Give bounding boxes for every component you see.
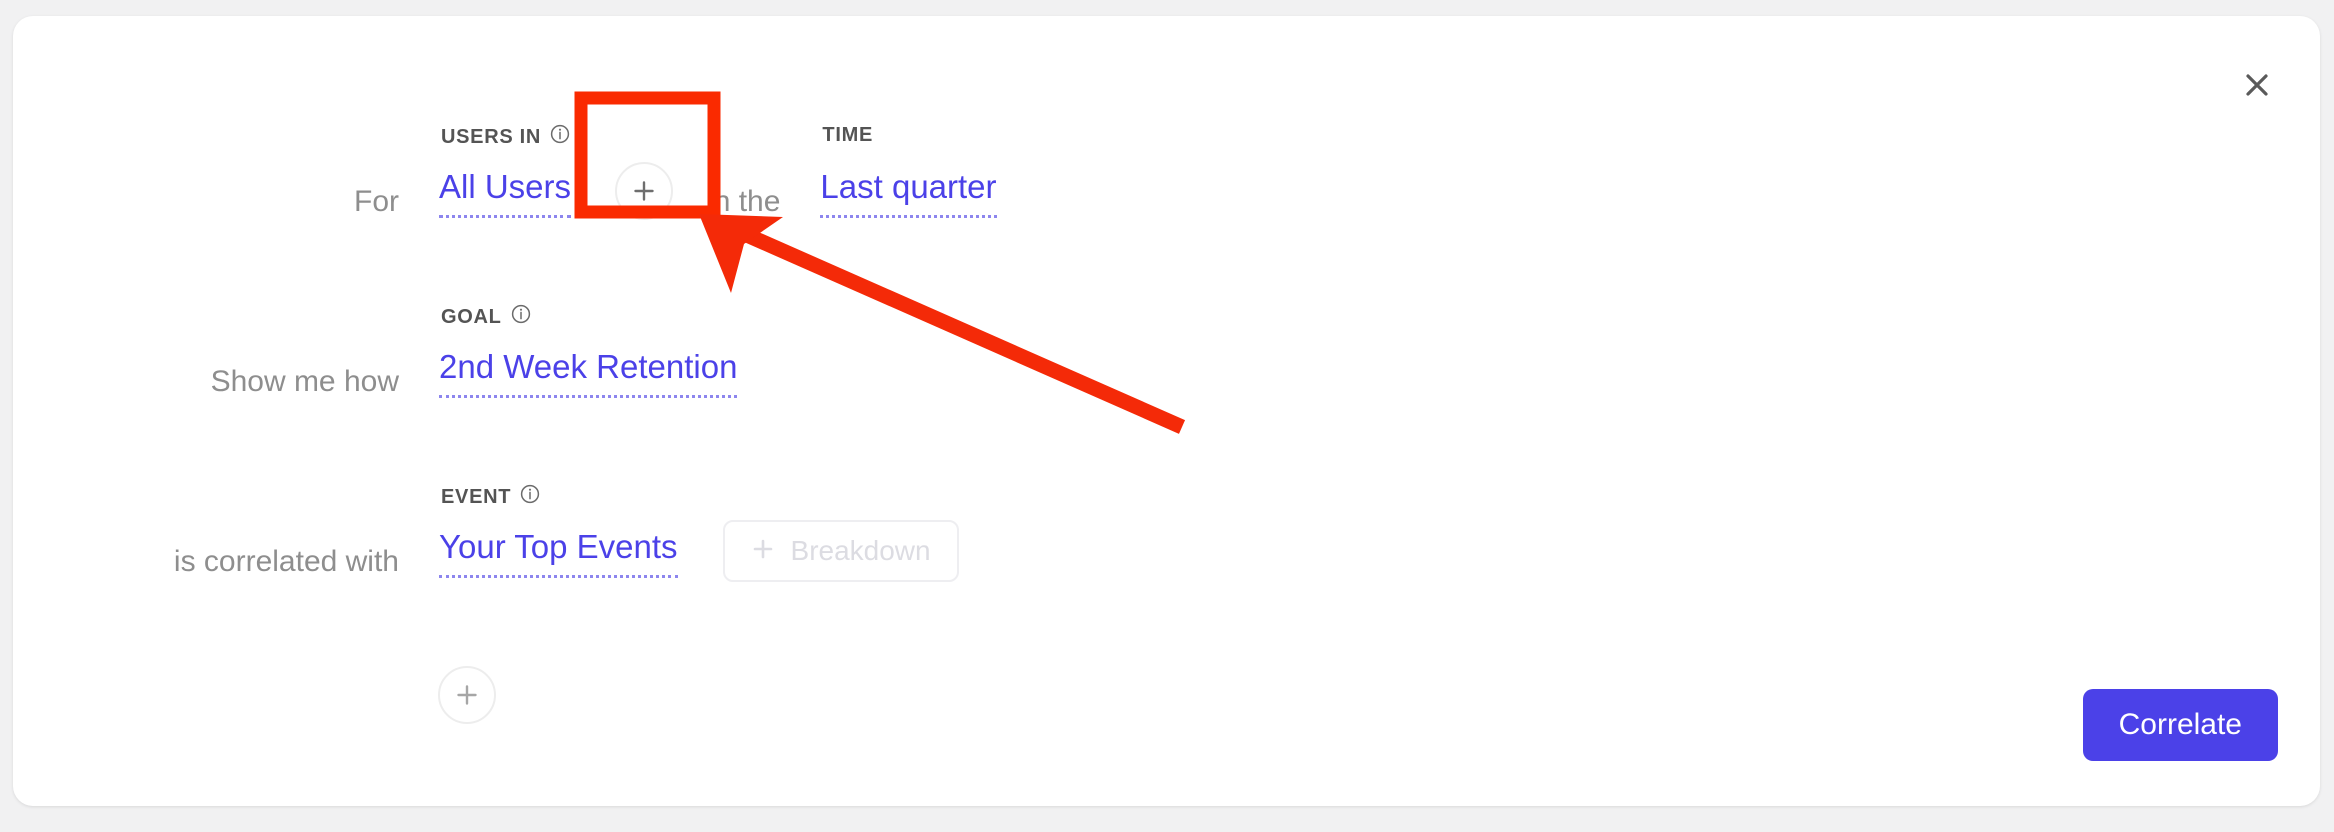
query-row-goal: Show me how GOAL 2nd Week Retention <box>13 314 737 406</box>
screen: For USERS IN All Users <box>0 0 2334 832</box>
row-lead-is-correlated-with: is correlated with <box>13 545 399 586</box>
field-label-users-in: USERS IN <box>441 124 570 150</box>
field-event: EVENT Your Top Events <box>439 528 678 586</box>
field-users-in: USERS IN All Users <box>439 168 571 226</box>
plus-icon <box>454 682 480 708</box>
add-breakdown-button[interactable]: Breakdown <box>723 520 959 582</box>
field-value-event[interactable]: Your Top Events <box>439 528 678 578</box>
plus-icon <box>751 537 775 566</box>
field-value-users-in[interactable]: All Users <box>439 168 571 218</box>
row-inline-text-in-the: in the <box>707 185 780 226</box>
query-row-users: For USERS IN All Users <box>13 134 997 226</box>
close-icon <box>2242 70 2272 100</box>
field-value-time[interactable]: Last quarter <box>820 168 996 218</box>
info-icon[interactable] <box>511 304 531 330</box>
correlate-button[interactable]: Correlate <box>2083 689 2278 761</box>
info-icon[interactable] <box>520 484 540 510</box>
breakdown-label: Breakdown <box>791 536 931 566</box>
field-value-goal[interactable]: 2nd Week Retention <box>439 348 737 398</box>
field-label-text: EVENT <box>441 486 511 509</box>
correlation-query-card: For USERS IN All Users <box>13 16 2320 806</box>
field-label-text: TIME <box>822 124 873 147</box>
field-label-text: GOAL <box>441 306 502 329</box>
info-icon[interactable] <box>550 124 570 150</box>
row-lead-for: For <box>13 185 399 226</box>
close-button[interactable] <box>2236 64 2278 106</box>
add-query-step-button[interactable] <box>438 666 496 724</box>
field-label-time: TIME <box>822 124 873 147</box>
field-label-goal: GOAL <box>441 304 531 330</box>
row-lead-show-me-how: Show me how <box>13 365 399 406</box>
query-row-event: is correlated with EVENT Your Top Event <box>13 494 959 586</box>
plus-icon <box>631 178 657 204</box>
field-label-event: EVENT <box>441 484 540 510</box>
field-time: TIME Last quarter <box>820 168 996 226</box>
field-label-text: USERS IN <box>441 126 541 149</box>
field-goal: GOAL 2nd Week Retention <box>439 348 737 406</box>
add-users-in-filter-button[interactable] <box>615 162 673 220</box>
